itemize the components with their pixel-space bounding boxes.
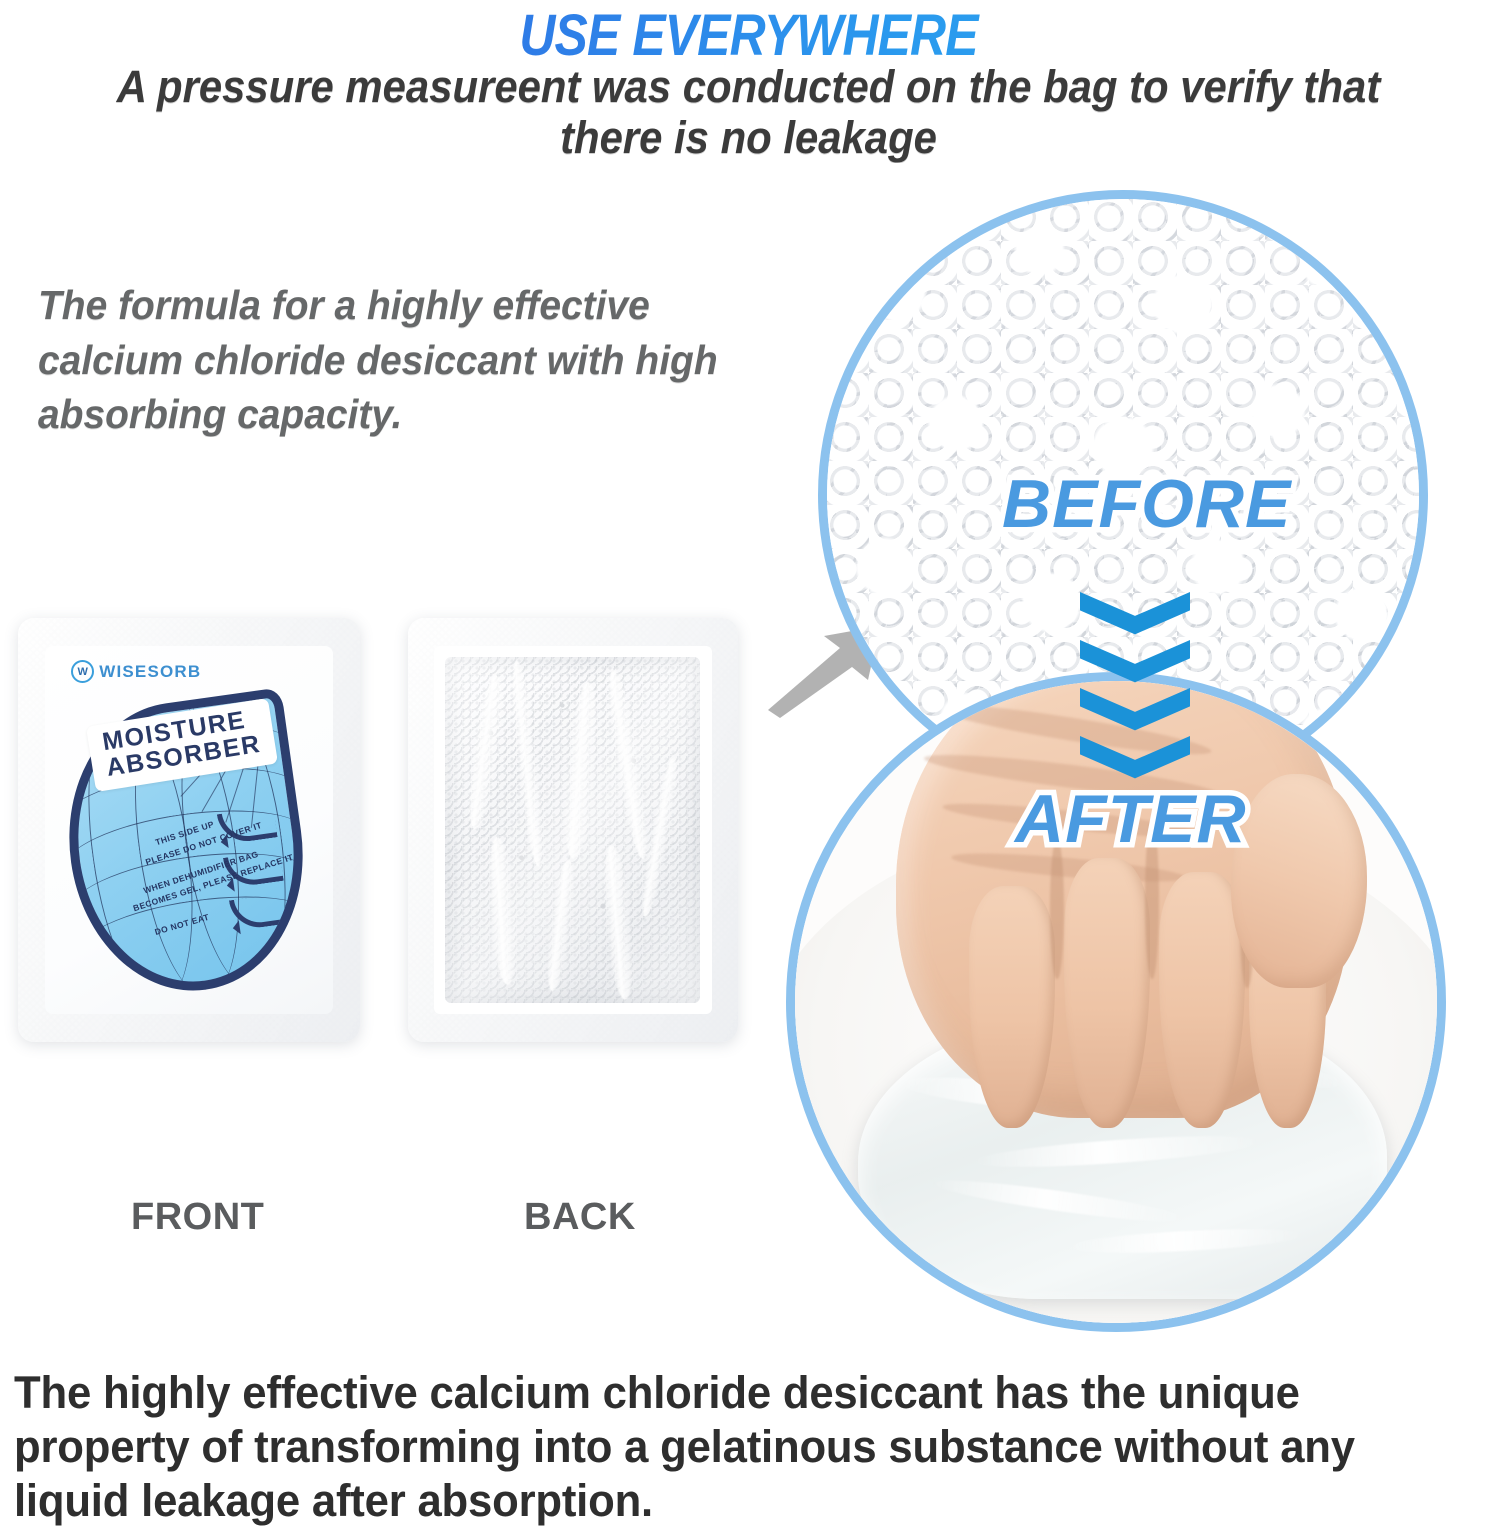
- caption-front: FRONT: [131, 1196, 264, 1239]
- brand-name: WISESORB: [99, 662, 201, 682]
- wisesorb-mark-icon: W: [71, 660, 94, 683]
- intro-paragraph: The formula for a highly effective calci…: [38, 278, 760, 442]
- packet-front-face: W WISESORB: [45, 646, 332, 1015]
- droplet-graphic: THIS SIDE UP PLEASE DO NOT COVER IT WHEN…: [51, 686, 327, 1007]
- before-label: BEFORE: [1002, 465, 1291, 543]
- page-title: USE EVERYWHERE: [105, 2, 1392, 69]
- transition-chevrons: [1080, 592, 1190, 782]
- brand-logo: W WISESORB: [71, 660, 201, 683]
- footer-paragraph: The highly effective calcium chloride de…: [14, 1366, 1440, 1528]
- packet-back-face: [434, 646, 711, 1015]
- chevron-down-icon: [1080, 688, 1190, 734]
- chevron-down-icon: [1080, 736, 1190, 782]
- chevron-down-icon: [1080, 592, 1190, 638]
- after-label: AFTER: [1015, 780, 1247, 858]
- product-packet-front: W WISESORB: [18, 618, 360, 1042]
- chevron-down-icon: [1080, 640, 1190, 686]
- product-infographic: USE EVERYWHERE A pressure measureent was…: [0, 0, 1497, 1500]
- caption-back: BACK: [524, 1196, 636, 1239]
- plastic-film-sheen: [434, 646, 711, 1015]
- product-packet-back: [408, 618, 738, 1042]
- page-subtitle: A pressure measureent was conducted on t…: [99, 62, 1398, 164]
- thumb: [1231, 774, 1367, 988]
